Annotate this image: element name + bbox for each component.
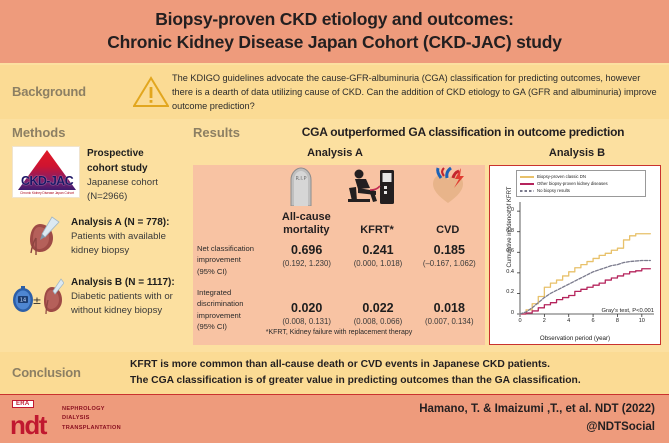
idi-ci-cvd: (0.007, 0.134) — [414, 317, 485, 326]
nri-label-0: Net classification — [197, 244, 254, 253]
ndt-wordmark: ndt — [10, 412, 46, 438]
chart-annotation-grays-test: Gray's test, P<0.001 — [601, 308, 654, 314]
ckd-jac-wordmark: CKD-JAC — [16, 174, 78, 188]
ckd-jac-subtitle: Chronic Kidney Disease Japan Cohort — [15, 191, 79, 195]
idi-value-cvd: 0.018 — [414, 301, 485, 315]
ckd-jac-logo: CKD-JAC Chronic Kidney Disease Japan Coh… — [12, 146, 80, 198]
poster-footer: ERA ndt NEPHROLOGY DIALYSIS TRANSPLANTAT… — [0, 395, 669, 443]
methods-section: Methods CKD-JAC Chronic Kidney Disease J… — [0, 119, 185, 352]
chart-x-axis-label: Observation period (year) — [490, 335, 660, 342]
era-badge: ERA — [12, 400, 34, 408]
column-header-all-cause-mortality: All-cause mortality — [271, 211, 342, 237]
methods-label: Methods — [12, 125, 177, 140]
title-line-1: Biopsy-proven CKD etiology and outcomes: — [155, 10, 514, 30]
analysis-a-title: Analysis A — [185, 147, 485, 159]
nri-label-1: improvement — [197, 255, 241, 264]
methods-cohort-sub2: (N=2966) — [87, 191, 127, 202]
col2-line1: CVD — [436, 224, 459, 236]
svg-text:R.I.P: R.I.P — [296, 176, 307, 182]
idi-ci-mortality: (0.008, 0.131) — [271, 317, 342, 326]
row-label: Net classification improvement (95% CI) — [193, 243, 271, 277]
infographic-poster: Biopsy-proven CKD etiology and outcomes:… — [0, 0, 669, 443]
methods-analysis-b-heading: Analysis B (N = 1117): — [71, 277, 175, 288]
social-handle: @NDTSocial — [586, 421, 655, 433]
results-header: Results CGA outperformed GA classificati… — [185, 119, 669, 140]
methods-analysis-b-sub1: Diabetic patients with or — [71, 291, 173, 302]
idi-value-mortality: 0.020 — [271, 301, 342, 315]
methods-cohort-sub1: Japanese cohort — [87, 177, 158, 188]
analysis-a-panel: R.I.P — [193, 165, 485, 345]
analysis-b-title: Analysis B — [485, 147, 669, 159]
methods-item-analysis-a: Analysis A (N = 778): Patients with avai… — [12, 215, 177, 264]
methods-item-cohort: CKD-JAC Chronic Kidney Disease Japan Coh… — [12, 146, 177, 204]
kfrt-footnote: *KFRT, Kidney failure with replacement t… — [193, 329, 485, 336]
conclusion-line-1: KFRT is more common than all-cause death… — [130, 359, 550, 370]
conclusion-line-2: The CGA classification is of greater val… — [130, 375, 581, 386]
poster-title-banner: Biopsy-proven CKD etiology and outcomes:… — [0, 0, 669, 63]
citation-block: Hamano, T. & Imaizumi ,T., et al. NDT (2… — [121, 401, 669, 437]
nri-label-2: (95% CI) — [197, 267, 227, 276]
col1-line1: KFRT* — [360, 224, 394, 236]
tombstone-rip-icon: R.I.P — [286, 166, 316, 211]
outcome-column-headers: All-cause mortality KFRT* CVD — [271, 211, 483, 237]
chart-series-line — [520, 261, 650, 314]
value-cell: 0.185 (–0.167, 1.062) — [414, 243, 485, 277]
conclusion-text: KFRT is more common than all-cause death… — [130, 357, 669, 390]
methods-item-text: Analysis A (N = 778): Patients with avai… — [71, 215, 169, 258]
value-cell: 0.696 (0.192, 1.230) — [271, 243, 342, 277]
row-values: 0.020 (0.008, 0.131) 0.022 (0.008, 0.066… — [271, 287, 485, 333]
methods-item-text: Analysis B (N = 1117): Diabetic patients… — [71, 275, 175, 318]
value-cell: 0.018 (0.007, 0.134) — [414, 301, 485, 333]
methods-cohort-heading: Prospective cohort study — [87, 148, 148, 174]
methods-analysis-a-sub2: kidney biopsy — [71, 245, 129, 256]
background-text: The KDIGO guidelines advocate the cause-… — [172, 71, 669, 114]
analysis-titles-row: Analysis A Analysis B — [185, 147, 669, 159]
conclusion-label-box: Conclusion — [0, 364, 130, 382]
col0-line2: mortality — [283, 224, 329, 236]
results-label: Results — [193, 125, 265, 140]
nri-value-kfrt: 0.241 — [342, 243, 413, 257]
value-cell: 0.241 (0.000, 1.018) — [342, 243, 413, 277]
column-header-cvd: CVD — [412, 211, 483, 237]
ndt-journal-logo: ERA ndt NEPHROLOGY DIALYSIS TRANSPLANTAT… — [0, 400, 121, 438]
background-label-box: Background — [0, 83, 130, 101]
ndt-line-1: NEPHROLOGY — [62, 405, 121, 415]
nri-ci-cvd: (–0.167, 1.062) — [414, 259, 485, 268]
ndt-line-3: TRANSPLANTATION — [62, 424, 121, 434]
methods-item-text: Prospective cohort study Japanese cohort… — [87, 146, 177, 204]
cumulative-incidence-chart: Biopsy-proven classic DN Other biopsy-pr… — [490, 166, 660, 344]
idi-label-2: improvement — [197, 311, 241, 320]
idi-ci-kfrt: (0.008, 0.066) — [342, 317, 413, 326]
results-section: Results CGA outperformed GA classificati… — [185, 119, 669, 352]
methods-item-analysis-b: 14 ± Analysis B (N = 1117): Diabetic pat… — [12, 275, 177, 324]
analysis-b-chart-panel: Biopsy-proven classic DN Other biopsy-pr… — [489, 165, 661, 345]
row-label: Integrated discrimination improvement (9… — [193, 287, 271, 333]
warning-triangle-icon — [130, 76, 172, 108]
nri-value-mortality: 0.696 — [271, 243, 342, 257]
nri-value-cvd: 0.185 — [414, 243, 485, 257]
title-line-2: Chronic Kidney Disease Japan Cohort (CKD… — [107, 33, 562, 53]
idi-label-1: discrimination — [197, 299, 243, 308]
ndt-journal-name: NEPHROLOGY DIALYSIS TRANSPLANTATION — [62, 405, 121, 434]
heart-cvd-icon — [428, 166, 468, 211]
citation-text: Hamano, T. & Imaizumi ,T., et al. NDT (2… — [419, 403, 655, 415]
table-row-integrated-discrimination-improvement: Integrated discrimination improvement (9… — [193, 287, 485, 333]
ndt-logo-mark: ERA ndt — [10, 400, 58, 438]
background-label: Background — [12, 84, 86, 99]
idi-value-kfrt: 0.022 — [342, 301, 413, 315]
methods-analysis-a-sub1: Patients with available — [71, 231, 166, 242]
nri-ci-mortality: (0.192, 1.230) — [271, 259, 342, 268]
nri-ci-kfrt: (0.000, 1.018) — [342, 259, 413, 268]
conclusion-label: Conclusion — [12, 365, 81, 380]
row-values: 0.696 (0.192, 1.230) 0.241 (0.000, 1.018… — [271, 243, 485, 277]
value-cell: 0.020 (0.008, 0.131) — [271, 301, 342, 333]
col0-line1: All-cause — [282, 211, 331, 223]
idi-label-0: Integrated — [197, 288, 231, 297]
outcome-icons-row: R.I.P — [271, 169, 483, 211]
methods-analysis-b-sub2: without kidney biopsy — [71, 305, 162, 316]
glucometer-plus-minus-kidney-icon: 14 ± — [12, 275, 64, 324]
value-cell: 0.022 (0.008, 0.066) — [342, 301, 413, 333]
svg-text:14: 14 — [20, 297, 26, 303]
chart-plot-area — [490, 166, 662, 346]
ndt-line-2: DIALYSIS — [62, 414, 121, 424]
svg-text:±: ± — [32, 294, 41, 307]
dialysis-patient-icon — [346, 166, 398, 211]
conclusion-section: Conclusion KFRT is more common than all-… — [0, 352, 669, 395]
column-header-kfrt: KFRT* — [342, 211, 413, 237]
background-section: Background The KDIGO guidelines advocate… — [0, 65, 669, 119]
methods-analysis-a-heading: Analysis A (N = 778): — [71, 217, 169, 228]
kidney-biopsy-needle-icon — [12, 215, 64, 264]
results-headline: CGA outperformed GA classification in ou… — [265, 125, 669, 139]
table-row-net-classification-improvement: Net classification improvement (95% CI) … — [193, 243, 485, 277]
